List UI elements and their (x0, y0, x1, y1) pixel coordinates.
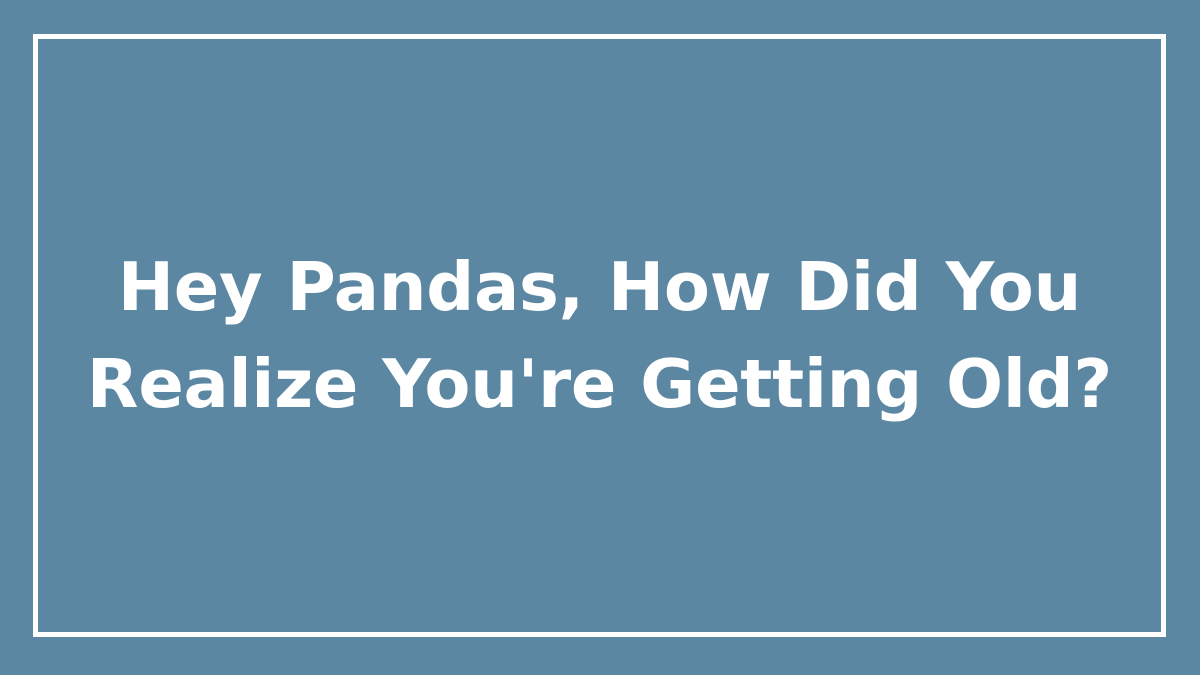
poster-canvas: Hey Pandas, How Did You Realize You're G… (0, 0, 1200, 675)
headline-container: Hey Pandas, How Did You Realize You're G… (33, 34, 1166, 637)
headline-line-1: Hey Pandas, How Did You (73, 239, 1126, 336)
headline-line-2: Realize You're Getting Old? (73, 336, 1126, 433)
page-title: Hey Pandas, How Did You Realize You're G… (73, 239, 1126, 433)
